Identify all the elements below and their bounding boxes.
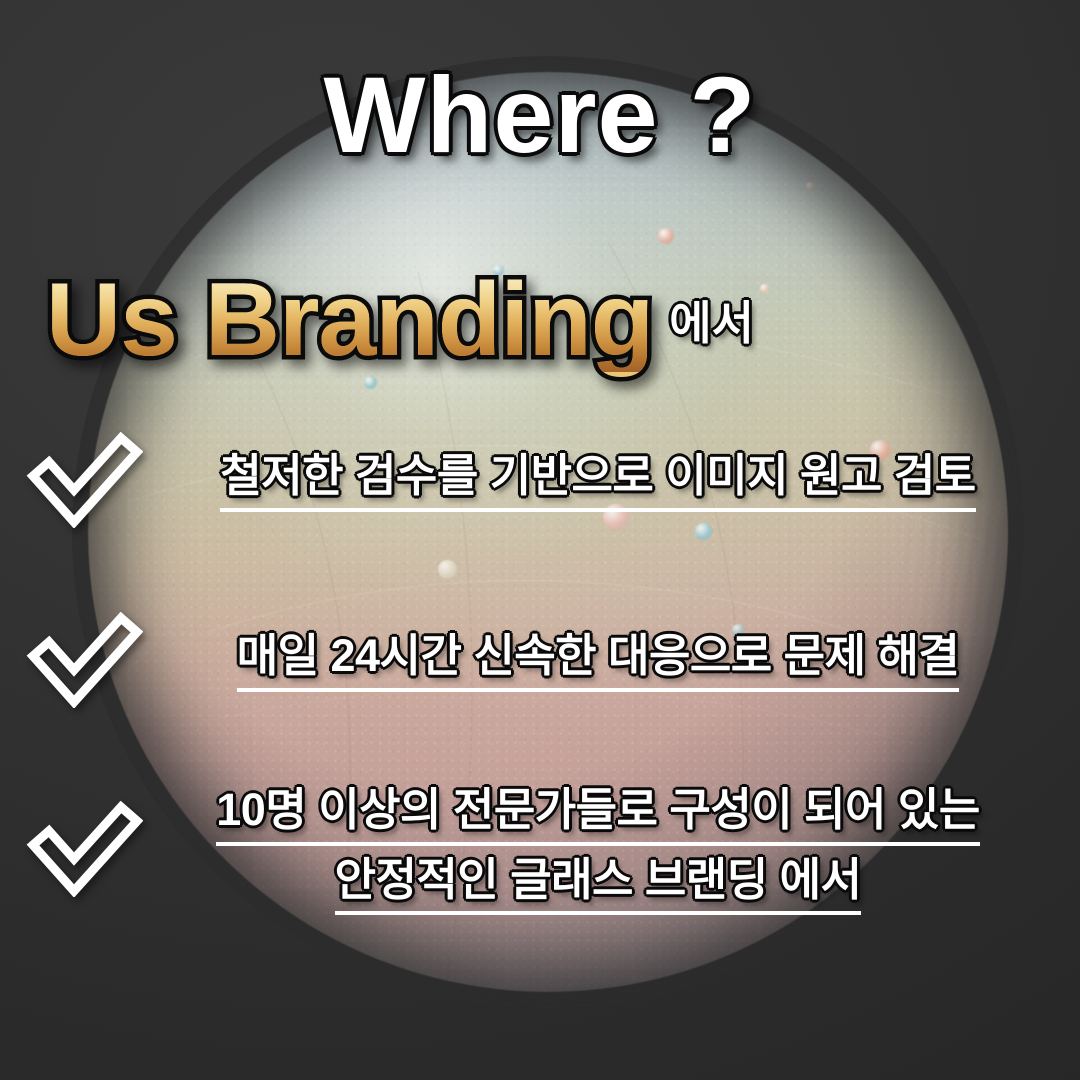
bullet-line: 매일 24시간 신속한 대응으로 문제 해결 (237, 628, 960, 692)
check-icon (25, 612, 143, 708)
content-layer: Where ? Us Branding 에서 철저한 검수를 기반으로 이미지 … (0, 0, 1080, 1080)
promo-card: Where ? Us Branding 에서 철저한 검수를 기반으로 이미지 … (0, 0, 1080, 1080)
check-cell (0, 612, 168, 708)
bullet-line: 철저한 검수를 기반으로 이미지 원고 검토 (220, 448, 975, 512)
check-icon (25, 432, 143, 528)
page-title: Where ? (0, 58, 1080, 171)
bullet-text-cell: 철저한 검수를 기반으로 이미지 원고 검토 (168, 448, 1080, 512)
brand-line: Us Branding 에서 (46, 268, 1056, 372)
list-item: 매일 24시간 신속한 대응으로 문제 해결 (0, 612, 1080, 708)
list-item: 철저한 검수를 기반으로 이미지 원고 검토 (0, 432, 1080, 528)
bullet-text-cell: 매일 24시간 신속한 대응으로 문제 해결 (168, 628, 1080, 692)
brand-suffix-label: 에서 (669, 287, 754, 353)
check-cell (0, 432, 168, 528)
check-cell (0, 801, 168, 897)
bullet-line: 10명 이상의 전문가들로 구성이 되어 있는 (216, 782, 979, 846)
list-item: 10명 이상의 전문가들로 구성이 되어 있는 안정적인 글래스 브랜딩 에서 (0, 782, 1080, 915)
brand-name: Us Branding (46, 268, 653, 372)
bullet-text-cell: 10명 이상의 전문가들로 구성이 되어 있는 안정적인 글래스 브랜딩 에서 (168, 782, 1080, 915)
check-icon (25, 801, 143, 897)
bullet-line: 안정적인 글래스 브랜딩 에서 (335, 852, 862, 916)
